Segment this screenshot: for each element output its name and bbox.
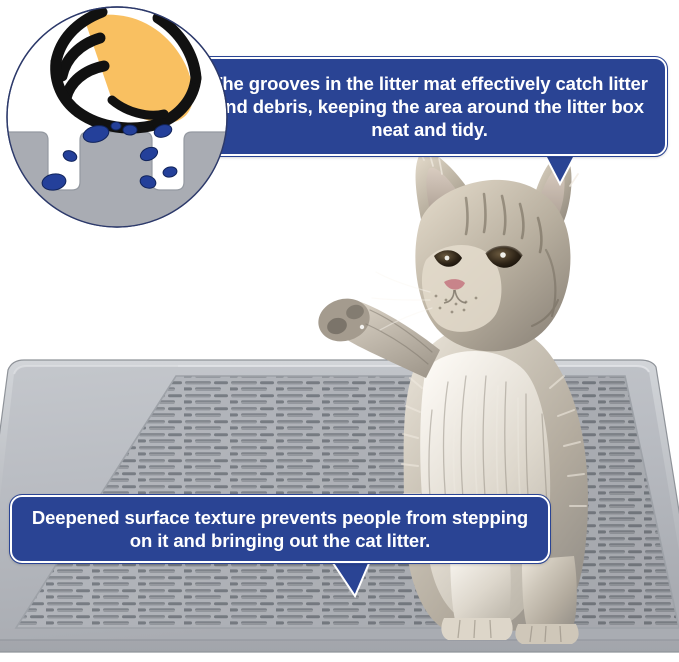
cat-raised-paw bbox=[313, 293, 440, 378]
product-infographic: The grooves in the litter mat effectivel… bbox=[0, 0, 679, 662]
callout-deepened-surface-texture: Deepened surface texture prevents people… bbox=[10, 495, 550, 563]
callout-bottom-text: Deepened surface texture prevents people… bbox=[12, 506, 548, 553]
callout-grooves-catch-litter: The grooves in the litter mat effectivel… bbox=[192, 57, 667, 156]
groove-detail-inset bbox=[4, 4, 230, 230]
inset-mat-cross-section bbox=[4, 132, 230, 230]
callout-top-text: The grooves in the litter mat effectivel… bbox=[194, 72, 665, 142]
paw-and-grooves-diagram bbox=[4, 4, 230, 230]
